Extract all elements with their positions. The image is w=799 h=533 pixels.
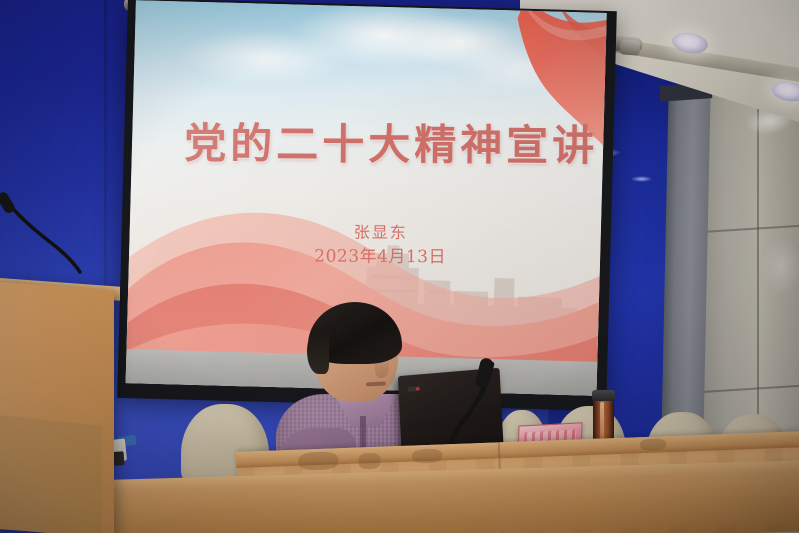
podium-microphone[interactable] (2, 198, 94, 288)
bottle-cap[interactable] (592, 390, 615, 401)
table-smudge (412, 448, 442, 463)
podium-front-panel (0, 414, 102, 533)
slide-presenter-name: 张显东 (256, 218, 506, 244)
table-smudge (298, 451, 339, 470)
projector-screen-roller-end (619, 39, 640, 56)
wall-glint (630, 176, 652, 182)
column-highlight (762, 238, 799, 294)
table-smudge (358, 453, 381, 470)
screenshot-root: 党的二十大精神宣讲 张显东 2023年4月13日 (0, 0, 799, 533)
slide-red-flag-graphic (460, 0, 607, 221)
presenter-hair-side (307, 330, 329, 374)
table-smudge (640, 438, 666, 451)
slide-date: 2023年4月13日 (255, 241, 505, 268)
slide-title: 党的二十大精神宣讲 (184, 110, 584, 173)
laptop-logo-icon (407, 386, 420, 392)
